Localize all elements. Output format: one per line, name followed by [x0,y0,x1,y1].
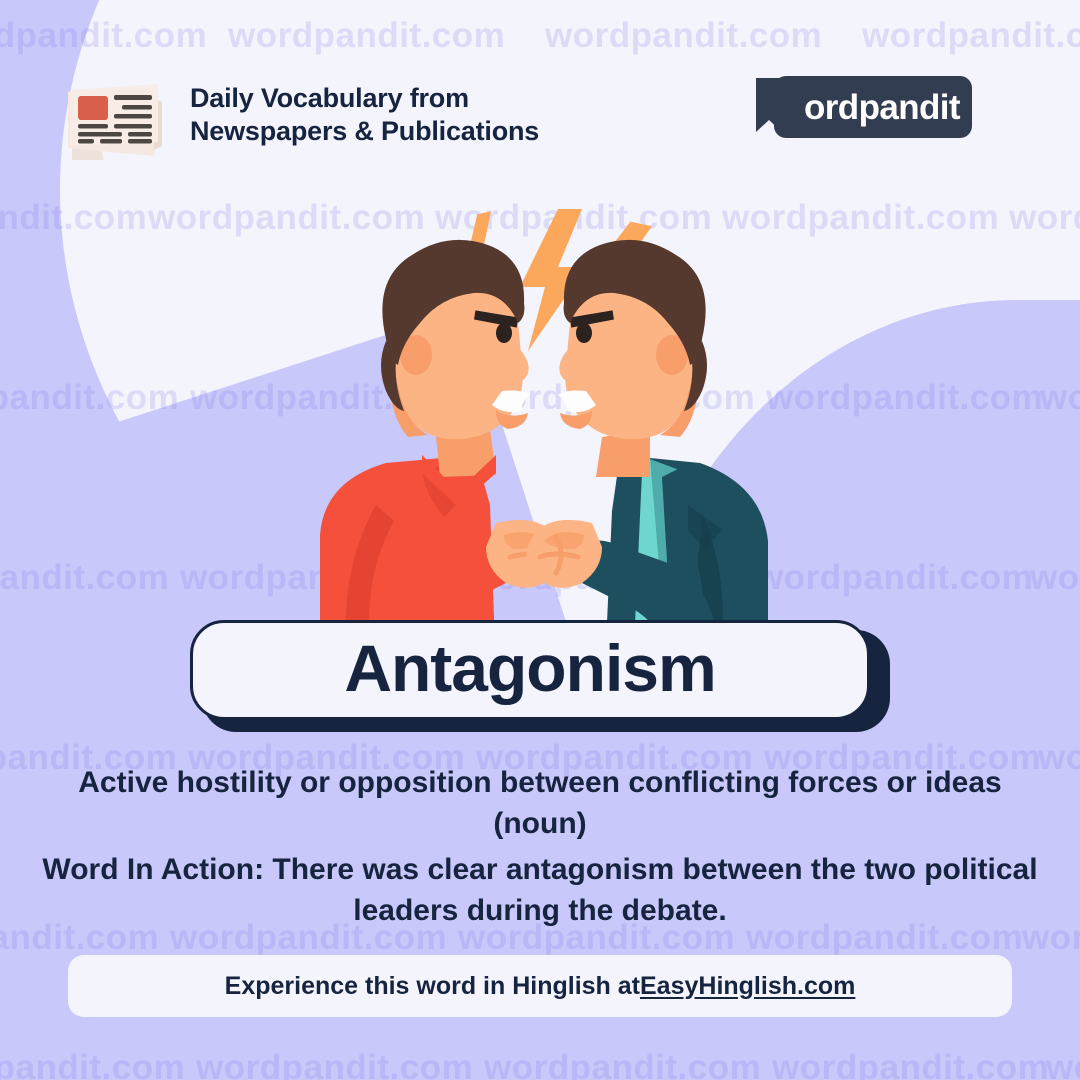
page-title: Daily Vocabulary from Newspapers & Publi… [190,82,539,148]
headline-line-2: Newspapers & Publications [190,115,539,148]
poster-header: Daily Vocabulary from Newspapers & Publi… [0,62,1080,172]
vocabulary-word: Antagonism [344,635,715,701]
wordpandit-logo[interactable]: ordpandit [748,76,972,142]
man-red-shirt [320,240,562,645]
easyhinglish-link[interactable]: EasyHinglish.com [640,972,855,1001]
logo-text: ordpandit [804,88,960,128]
two-angry-men-illustration [290,205,800,645]
newspaper-icon [58,70,174,166]
headline-line-1: Daily Vocabulary from [190,82,539,115]
poster-canvas: wordpandit.com wordpandit.com wordpandit… [0,0,1080,1080]
bookmark-w-icon [748,76,810,144]
word-in-action-example: Word In Action: There was clear antagoni… [30,850,1050,931]
hinglish-cta-bar[interactable]: Experience this word in Hinglish at Easy… [68,955,1012,1017]
word-banner-body: Antagonism [190,620,870,720]
word-banner: Antagonism [190,620,890,732]
hinglish-cta-prefix: Experience this word in Hinglish at [225,972,640,1001]
word-definition: Active hostility or opposition between c… [40,763,1040,844]
